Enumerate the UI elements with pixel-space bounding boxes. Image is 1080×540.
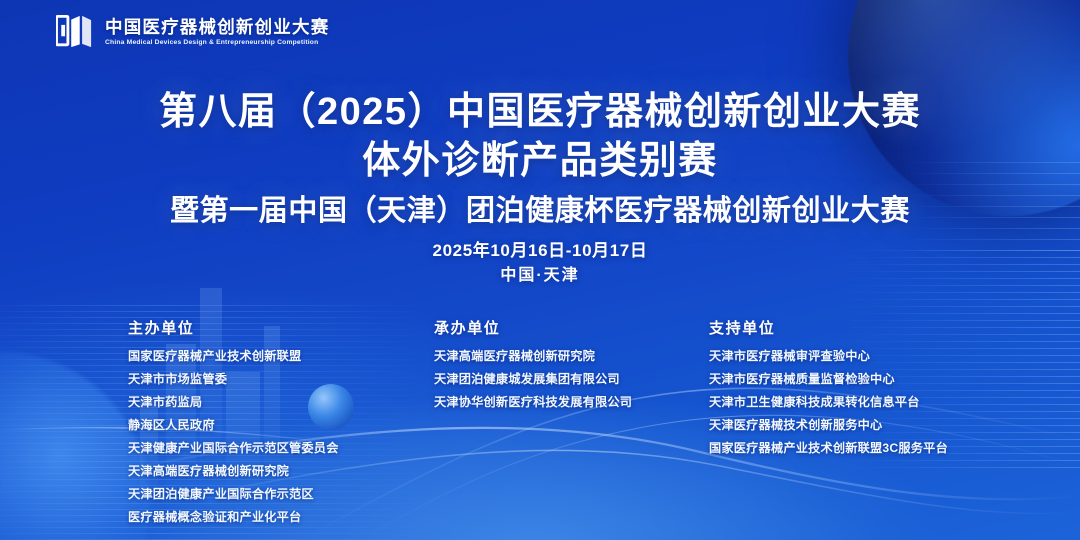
event-date: 2025年10月16日-10月17日 [0, 238, 1080, 264]
organizer-item: 国家医疗器械产业技术创新联盟3C服务平台 [709, 437, 948, 460]
title-line-2: 体外诊断产品类别赛 [0, 137, 1080, 186]
organizer-column-supporter: 支持单位 天津市医疗器械审评查验中心 天津市医疗器械质量监督检验中心 天津市卫生… [709, 320, 948, 460]
organizer-item: 天津市医疗器械审评查验中心 [709, 345, 948, 368]
organizer-item: 天津团泊健康产业国际合作示范区 [128, 483, 339, 506]
organizer-item: 天津市市场监管委 [128, 368, 339, 391]
organizer-item: 天津高端医疗器械创新研究院 [434, 345, 632, 368]
organizer-item: 天津市医疗器械质量监督检验中心 [709, 368, 948, 391]
open-book-gateway-logo-icon [56, 14, 94, 50]
brand-logo: 中国医疗器械创新创业大赛 China Medical Devices Desig… [56, 14, 329, 50]
event-meta: 2025年10月16日-10月17日 中国·天津 [0, 238, 1080, 288]
title-line-3: 暨第一届中国（天津）团泊健康杯医疗器械创新创业大赛 [0, 193, 1080, 230]
organizer-column-host: 主办单位 国家医疗器械产业技术创新联盟 天津市市场监管委 天津市药监局 静海区人… [128, 320, 339, 529]
organizer-column-heading: 主办单位 [128, 320, 339, 338]
organizer-item: 天津团泊健康城发展集团有限公司 [434, 368, 632, 391]
organizer-column-heading: 承办单位 [434, 320, 632, 338]
organizer-column-heading: 支持单位 [709, 320, 948, 338]
brand-logo-text: 中国医疗器械创新创业大赛 China Medical Devices Desig… [105, 18, 329, 46]
organizer-item: 医疗器械概念验证和产业化平台 [128, 506, 339, 529]
organizer-item: 静海区人民政府 [128, 414, 339, 437]
brand-title-cn: 中国医疗器械创新创业大赛 [105, 18, 329, 38]
organizer-item: 天津医疗器械技术创新服务中心 [709, 414, 948, 437]
page-title: 第八届（2025）中国医疗器械创新创业大赛 体外诊断产品类别赛 暨第一届中国（天… [0, 88, 1080, 229]
organizer-column-undertaker: 承办单位 天津高端医疗器械创新研究院 天津团泊健康城发展集团有限公司 天津协华创… [434, 320, 632, 414]
organizer-item: 天津市药监局 [128, 391, 339, 414]
conference-banner: 中国医疗器械创新创业大赛 China Medical Devices Desig… [0, 0, 1080, 540]
brand-title-en: China Medical Devices Design & Entrepren… [105, 39, 334, 46]
organizer-item: 天津高端医疗器械创新研究院 [128, 460, 339, 483]
organizer-item: 国家医疗器械产业技术创新联盟 [128, 345, 339, 368]
organizer-item: 天津健康产业国际合作示范区管委员会 [128, 437, 339, 460]
organizer-columns: 主办单位 国家医疗器械产业技术创新联盟 天津市市场监管委 天津市药监局 静海区人… [0, 320, 1080, 510]
organizer-item: 天津协华创新医疗科技发展有限公司 [434, 391, 632, 414]
title-line-1: 第八届（2025）中国医疗器械创新创业大赛 [0, 88, 1080, 137]
event-location: 中国·天津 [0, 264, 1080, 288]
organizer-item: 天津市卫生健康科技成果转化信息平台 [709, 391, 948, 414]
